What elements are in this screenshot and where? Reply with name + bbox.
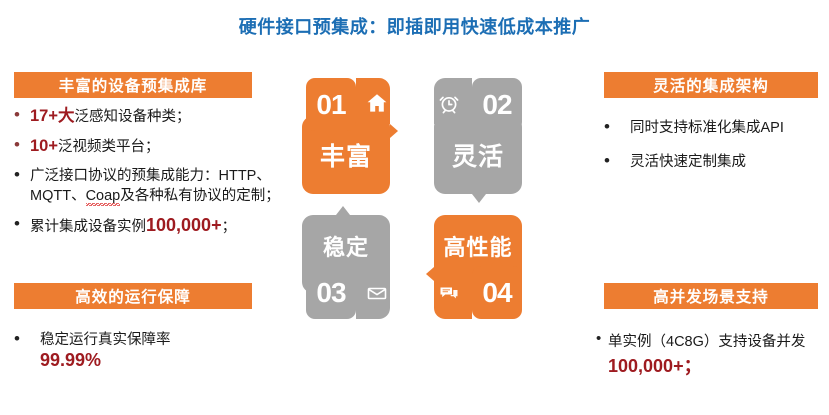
list-item: • 17+大泛感知设备种类； — [14, 106, 286, 127]
bullet-dot-icon: • — [14, 166, 30, 183]
list-item-text: 灵活快速定制集成 — [630, 152, 826, 172]
uptime-value: 99.99% — [40, 350, 101, 370]
home-icon — [358, 84, 396, 122]
quadrant-01-label: 丰富 — [302, 122, 390, 188]
list-item-text: 单实例（4C8G）支持设备并发100,000+； — [608, 330, 829, 380]
list-item-text: 10+泛视频类平台； — [30, 136, 286, 157]
bullet-dot-icon: • — [14, 136, 30, 153]
bullet-list-efficient-operation: • 稳定运行真实保障率 99.99% — [14, 330, 286, 381]
concurrency-prefix: 单实例（4C8G）支持设备并发 — [608, 334, 805, 350]
list-item: • 单实例（4C8G）支持设备并发100,000+； — [596, 330, 829, 380]
list-item-suffix: ； — [222, 219, 237, 235]
alarm-clock-icon — [430, 84, 468, 122]
bullet-dot-icon: • — [14, 330, 40, 347]
quadrant-02-number: 02 — [482, 89, 511, 121]
list-item: • 累计集成设备实例100,000+； — [14, 215, 286, 237]
protocol-line-2c: 及各种私有协议的定制； — [120, 188, 280, 204]
list-item-text: 17+大泛感知设备种类； — [30, 106, 286, 127]
section-header-rich-device-library: 丰富的设备预集成库 — [14, 72, 252, 98]
uptime-label: 稳定运行真实保障率 — [40, 332, 171, 348]
list-item-text: 累计集成设备实例100,000+； — [30, 215, 286, 237]
bullet-dot-icon: • — [14, 215, 30, 232]
protocol-line-1: 广泛接口协议的预集成能力：HTTP、 — [30, 168, 271, 184]
list-item-prefix: 累计集成设备实例 — [30, 219, 146, 235]
quadrant-02-label: 灵活 — [434, 122, 522, 188]
bullet-dot-icon: • — [596, 330, 608, 347]
page-title: 硬件接口预集成：即插即用快速低成本推广 — [0, 13, 829, 39]
list-item-rest: 泛感知设备种类； — [75, 109, 191, 125]
quadrant-04-label: 高性能 — [431, 215, 525, 277]
bullet-dot-icon: • — [604, 118, 630, 135]
quadrant-03-top-arrow-icon — [336, 206, 350, 215]
emphasis-value: 10+ — [30, 137, 58, 155]
list-item-text: 稳定运行真实保障率 99.99% — [40, 330, 286, 372]
bullet-list-high-concurrency: • 单实例（4C8G）支持设备并发100,000+； — [596, 330, 829, 389]
list-item: • 灵活快速定制集成 — [604, 152, 826, 172]
quadrant-03-label: 稳定 — [302, 215, 390, 277]
quadrant-01-number: 01 — [316, 89, 345, 121]
bullet-dot-icon: • — [604, 152, 630, 169]
emphasis-value: 17+大 — [30, 107, 75, 125]
protocol-line-2a: MQTT、 — [30, 188, 86, 204]
quadrant-01-side-arrow-icon — [390, 124, 398, 138]
list-item: • 稳定运行真实保障率 99.99% — [14, 330, 286, 372]
concurrency-value: 100,000+； — [608, 356, 702, 376]
chat-bubble-icon — [430, 274, 468, 312]
section-header-efficient-operation: 高效的运行保障 — [14, 283, 252, 309]
emphasis-value: 100,000+ — [146, 215, 222, 235]
list-item: • 同时支持标准化集成API — [604, 118, 826, 138]
list-item: • 10+泛视频类平台； — [14, 136, 286, 157]
bullet-dot-icon: • — [14, 106, 30, 123]
four-quadrant-diagram: 01 丰富 02 灵活 — [300, 78, 530, 323]
quadrant-04-number: 04 — [482, 277, 511, 309]
section-header-flexible-architecture: 灵活的集成架构 — [604, 72, 818, 98]
list-item: • 广泛接口协议的预集成能力：HTTP、 MQTT、Coap及各种私有协议的定制… — [14, 166, 286, 206]
bullet-list-flexible-architecture: • 同时支持标准化集成API • 灵活快速定制集成 — [604, 118, 826, 186]
list-item-text: 广泛接口协议的预集成能力：HTTP、 MQTT、Coap及各种私有协议的定制； — [30, 166, 286, 206]
section-header-high-concurrency: 高并发场景支持 — [604, 283, 818, 309]
bullet-list-rich-device-library: • 17+大泛感知设备种类； • 10+泛视频类平台； • 广泛接口协议的预集成… — [14, 106, 286, 246]
list-item-text: 同时支持标准化集成API — [630, 118, 826, 138]
envelope-icon — [358, 274, 396, 312]
list-item-rest: 泛视频类平台； — [58, 139, 160, 155]
misspelled-word-coap: Coap — [86, 188, 121, 206]
quadrant-02-bottom-arrow-icon — [472, 194, 486, 203]
quadrant-03-number: 03 — [316, 277, 345, 309]
